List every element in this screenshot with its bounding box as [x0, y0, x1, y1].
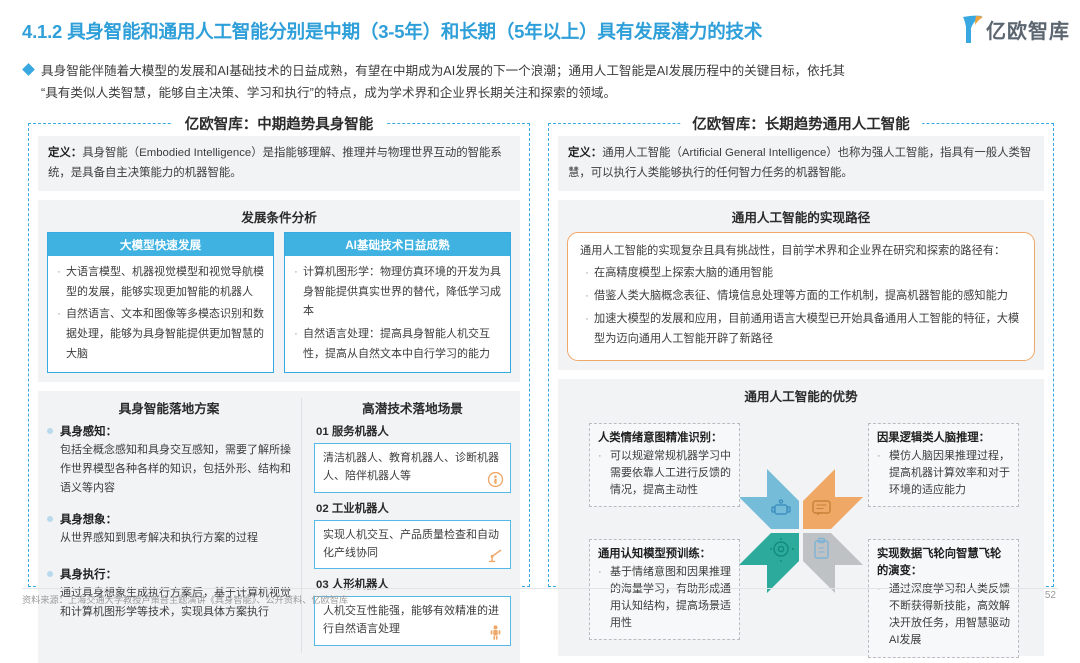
bullet-dot-icon: ·	[52, 305, 66, 364]
bullet-dot-icon: ·	[289, 325, 303, 364]
advantage-card-causal: 因果逻辑类人脑推理： ·模仿人脑因果推理过程，提高机器计算效率和对于环境的适应能…	[868, 423, 1019, 507]
left-panel-body: 定义：具身智能（Embodied Intelligence）是指能够理解、推理并…	[38, 136, 520, 577]
advantage-text: 模仿人脑因果推理过程，提高机器计算效率和对于环境的适应能力	[889, 448, 1010, 499]
condition-box-group: 大模型快速发展 ·大语言模型、机器视觉模型和视觉导航模型的发展，能够实现更加智能…	[47, 232, 511, 373]
list-item-text: 自然语言、文本和图像等多模态识别和数据处理，能够为具身智能提供更加智慧的大脑	[66, 305, 266, 364]
scenario-column: 高潜技术落地场景 01 服务机器人 清洁机器人、教育机器人、诊断机器人、陪伴机器…	[302, 398, 511, 653]
plan-item-head: 具身执行：	[60, 566, 291, 584]
scenario-text-02: 实现人机交互、产品质量检查和自动化产线协同	[323, 529, 499, 559]
left-panel-title: 亿欧智库：中期趋势具身智能	[173, 113, 386, 134]
pinwheel-diagram-icon	[731, 461, 871, 601]
list-item: 具身感知： 包括全概念感知和具身交互感知，需要了解所操作世界模型各种各样的知识，…	[47, 423, 291, 498]
advantages-section: 通用人工智能的优势	[558, 379, 1044, 656]
left-definition-label: 定义：	[48, 147, 82, 159]
plan-item-head: 具身感知：	[60, 423, 291, 441]
title-row: 4.1.2 具身智能和通用人工智能分别是中期（3-5年）和长期（5年以上）具有发…	[22, 12, 1064, 50]
condition-box-ai-base-head: AI基础技术日益成熟	[285, 233, 510, 256]
slide: 4.1.2 具身智能和通用人工智能分别是中期（3-5年）和长期（5年以上）具有发…	[0, 0, 1080, 608]
path-lead-text: 通用人工智能的实现复杂且具有挑战性，目前学术界和企业界在研究和探索的路径有：	[580, 242, 1022, 261]
list-item: ·在高精度模型上探索大脑的通用智能	[580, 264, 1022, 284]
service-robot-icon	[487, 471, 504, 488]
advantage-head: 实现数据飞轮向智慧飞轮的演变：	[877, 546, 1010, 580]
list-item: ·大语言模型、机器视觉模型和视觉导航模型的发展，能够实现更加智能的机器人	[52, 263, 266, 302]
path-box: 通用人工智能的实现复杂且具有挑战性，目前学术界和企业界在研究和探索的路径有： ·…	[567, 232, 1035, 361]
list-item: ·借鉴人类大脑概念表征、情境信息处理等方面的工作机制，提高机器智能的感知能力	[580, 287, 1022, 307]
list-item: ·自然语言处理：提高具身智能人机交互性，提高从自然文本中自行学习的能力	[289, 325, 503, 364]
scenario-label-03: 03 人形机器人	[316, 576, 511, 592]
condition-box-llm-head: 大模型快速发展	[48, 233, 273, 256]
condition-box-llm-body: ·大语言模型、机器视觉模型和视觉导航模型的发展，能够实现更加智能的机器人 ·自然…	[48, 256, 273, 372]
scenario-title: 高潜技术落地场景	[314, 398, 511, 417]
page-title: 4.1.2 具身智能和通用人工智能分别是中期（3-5年）和长期（5年以上）具有发…	[22, 18, 762, 44]
logo-text: 亿欧智库	[986, 15, 1070, 44]
advantage-head: 人类情绪意图精准识别：	[598, 430, 731, 447]
landing-section: 具身智能落地方案 具身感知： 包括全概念感知和具身交互感知，需要了解所操作世界模…	[38, 391, 520, 663]
circle-bullet-icon	[47, 571, 53, 577]
circle-bullet-icon	[47, 428, 53, 434]
path-title: 通用人工智能的实现路径	[567, 207, 1035, 226]
lead-line-1: 具身智能伴随着大模型的发展和AI基础技术的日益成熟，有望在中期成为AI发展的下一…	[41, 60, 845, 82]
scenario-text-01: 清洁机器人、教育机器人、诊断机器人、陪伴机器人等	[323, 452, 499, 482]
right-panel-title: 亿欧智库：长期趋势通用人工智能	[680, 113, 922, 134]
right-definition-text: 通用人工智能（Artificial General Intelligence）也…	[568, 147, 1031, 179]
conditions-section: 发展条件分析 大模型快速发展 ·大语言模型、机器视觉模型和视觉导航模型的发展，能…	[38, 200, 520, 382]
advantage-text: 可以规避常规机器学习中需要依靠人工进行反馈的情况，提高主动性	[610, 448, 731, 499]
list-item: ·计算机图形学：物理仿真环境的开发为具身智能提供真实世界的替代，降低学习成本	[289, 263, 503, 322]
brand-logo: 亿欧智库	[962, 14, 1070, 44]
circle-bullet-icon	[47, 516, 53, 522]
plan-item-text: 从世界感知到思考解决和执行方案的过程	[60, 529, 258, 548]
scenario-text-03: 人机交互性能强，能够有效精准的进行自然语言处理	[323, 605, 499, 635]
lead-text: 具身智能伴随着大模型的发展和AI基础技术的日益成熟，有望在中期成为AI发展的下一…	[41, 60, 845, 104]
bullet-dot-icon: ·	[289, 263, 303, 322]
list-item: ·加速大模型的发展和应用，目前通用语言大模型已开始具备通用人工智能的特征，大模型…	[580, 310, 1022, 350]
advantages-title: 通用人工智能的优势	[567, 386, 1035, 405]
advantage-card-flywheel: 实现数据飞轮向智慧飞轮的演变： ·通过深度学习和人类反馈不断获得新技能，高效解决…	[868, 539, 1019, 658]
bullet-dot-icon: ·	[877, 448, 889, 499]
list-item: ·自然语言、文本和图像等多模态识别和数据处理，能够为具身智能提供更加智慧的大脑	[52, 305, 266, 364]
footer-source: 资料来源：上海交通大学教授卢策吾主题演讲《具身智能》、公开资料、亿欧智库	[22, 592, 348, 606]
humanoid-robot-icon	[487, 624, 504, 641]
bullet-dot-icon: ·	[580, 287, 594, 307]
advantage-card-emotion: 人类情绪意图精准识别： ·可以规避常规机器学习中需要依靠人工进行反馈的情况，提高…	[589, 423, 740, 507]
bullet-dot-icon: ·	[580, 310, 594, 350]
advantages-diagram: 人类情绪意图精准识别： ·可以规避常规机器学习中需要依靠人工进行反馈的情况，提高…	[567, 411, 1035, 647]
plan-item-text: 包括全概念感知和具身交互感知，需要了解所操作世界模型各种各样的知识，包括外形、结…	[60, 441, 291, 498]
plan-item-head: 具身想象：	[60, 511, 258, 529]
bullet-dot-icon: ·	[580, 264, 594, 284]
left-panel: 亿欧智库：中期趋势具身智能 定义：具身智能（Embodied Intellige…	[28, 123, 530, 587]
bullet-dot-icon: ·	[52, 263, 66, 302]
scenario-label-01: 01 服务机器人	[316, 423, 511, 439]
condition-box-llm: 大模型快速发展 ·大语言模型、机器视觉模型和视觉导航模型的发展，能够实现更加智能…	[47, 232, 274, 373]
list-item-text: 自然语言处理：提高具身智能人机交互性，提高从自然文本中自行学习的能力	[303, 325, 503, 364]
path-section: 通用人工智能的实现路径 通用人工智能的实现复杂且具有挑战性，目前学术界和企业界在…	[558, 200, 1044, 370]
lead-line-2: “具有类似人类智慧，能够自主决策、学习和执行”的特点，成为学术界和企业界长期关注…	[41, 82, 845, 104]
advantage-text: 基于情绪意图和因果推理的海量学习，有助形成通用认知结构，提高场景适用性	[610, 564, 731, 632]
bullet-dot-icon: ·	[598, 564, 610, 632]
plan-title: 具身智能落地方案	[47, 398, 291, 417]
advantage-text: 通过深度学习和人类反馈不断获得新技能，高效解决开放任务，用智慧驱动AI发展	[889, 581, 1010, 649]
condition-box-ai-base: AI基础技术日益成熟 ·计算机图形学：物理仿真环境的开发为具身智能提供真实世界的…	[284, 232, 511, 373]
industrial-arm-icon	[487, 547, 504, 564]
condition-box-ai-base-body: ·计算机图形学：物理仿真环境的开发为具身智能提供真实世界的替代，降低学习成本 ·…	[285, 256, 510, 372]
bullet-dot-icon: ·	[877, 581, 889, 649]
diamond-bullet-icon	[22, 63, 35, 76]
list-item-text: 加速大模型的发展和应用，目前通用语言大模型已开始具备通用人工智能的特征，大模型为…	[594, 310, 1022, 350]
right-definition-label: 定义：	[568, 147, 602, 159]
landing-split: 具身智能落地方案 具身感知： 包括全概念感知和具身交互感知，需要了解所操作世界模…	[47, 398, 511, 653]
scenario-box-02: 实现人机交互、产品质量检查和自动化产线协同	[314, 520, 511, 570]
advantage-body: ·可以规避常规机器学习中需要依靠人工进行反馈的情况，提高主动性	[598, 448, 731, 499]
advantage-body: ·基于情绪意图和因果推理的海量学习，有助形成通用认知结构，提高场景适用性	[598, 564, 731, 632]
footer-divider	[22, 588, 1058, 589]
right-panel-body: 定义：通用人工智能（Artificial General Intelligenc…	[558, 136, 1044, 577]
plan-column: 具身智能落地方案 具身感知： 包括全概念感知和具身交互感知，需要了解所操作世界模…	[47, 398, 302, 653]
list-item-text: 借鉴人类大脑概念表征、情境信息处理等方面的工作机制，提高机器智能的感知能力	[594, 287, 1022, 307]
scenario-box-01: 清洁机器人、教育机器人、诊断机器人、陪伴机器人等	[314, 443, 511, 493]
left-definition-text: 具身智能（Embodied Intelligence）是指能够理解、推理并与物理…	[48, 147, 502, 179]
scenario-label-02: 02 工业机器人	[316, 500, 511, 516]
advantage-card-pretrain: 通用认知模型预训练： ·基于情绪意图和因果推理的海量学习，有助形成通用认知结构，…	[589, 539, 740, 640]
list-item-text: 计算机图形学：物理仿真环境的开发为具身智能提供真实世界的替代，降低学习成本	[303, 263, 503, 322]
advantage-head: 通用认知模型预训练：	[598, 546, 731, 563]
list-item: 具身想象： 从世界感知到思考解决和执行方案的过程	[47, 511, 291, 548]
right-panel: 亿欧智库：长期趋势通用人工智能 定义：通用人工智能（Artificial Gen…	[548, 123, 1054, 587]
list-item-text: 在高精度模型上探索大脑的通用智能	[594, 264, 1022, 284]
conditions-title: 发展条件分析	[47, 207, 511, 226]
right-definition: 定义：通用人工智能（Artificial General Intelligenc…	[558, 136, 1044, 191]
advantage-body: ·通过深度学习和人类反馈不断获得新技能，高效解决开放任务，用智慧驱动AI发展	[877, 581, 1010, 649]
page-number: 52	[1045, 590, 1056, 601]
lead-paragraph: 具身智能伴随着大模型的发展和AI基础技术的日益成熟，有望在中期成为AI发展的下一…	[24, 60, 1054, 104]
bullet-dot-icon: ·	[598, 448, 610, 499]
left-definition: 定义：具身智能（Embodied Intelligence）是指能够理解、推理并…	[38, 136, 520, 191]
logo-mark-icon	[962, 14, 984, 44]
list-item-text: 大语言模型、机器视觉模型和视觉导航模型的发展，能够实现更加智能的机器人	[66, 263, 266, 302]
advantage-head: 因果逻辑类人脑推理：	[877, 430, 1010, 447]
advantage-body: ·模仿人脑因果推理过程，提高机器计算效率和对于环境的适应能力	[877, 448, 1010, 499]
